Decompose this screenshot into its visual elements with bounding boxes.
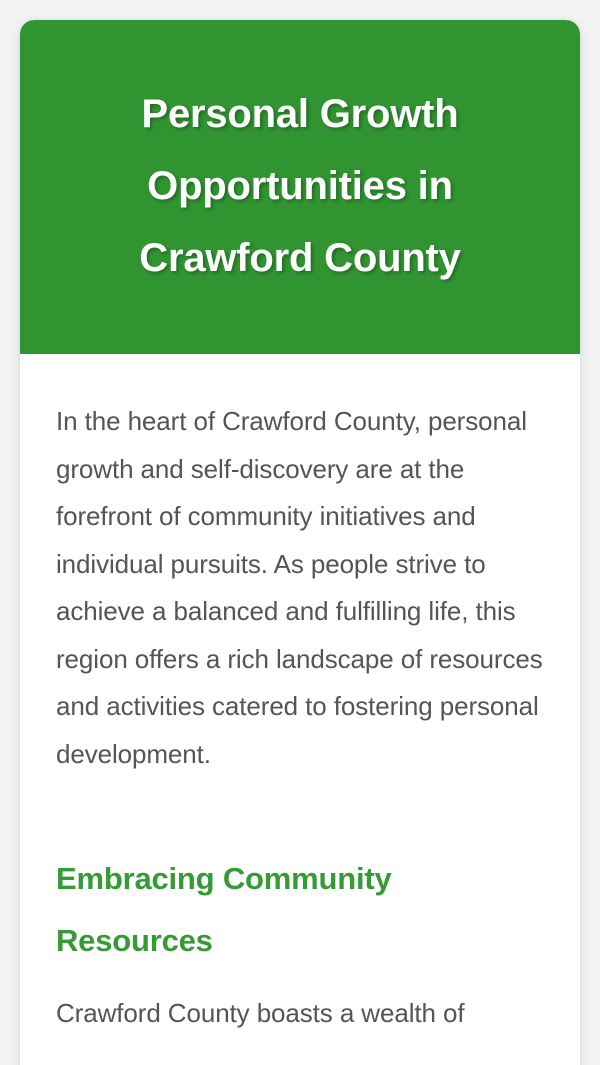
page-title: Personal Growth Opportunities in Crawfor… xyxy=(60,78,540,294)
intro-paragraph: In the heart of Crawford County, persona… xyxy=(56,398,544,778)
card-header-banner: Personal Growth Opportunities in Crawfor… xyxy=(20,20,580,354)
section-one-paragraph: Crawford County boasts a wealth of xyxy=(56,990,544,1038)
article-page: Personal Growth Opportunities in Crawfor… xyxy=(0,0,600,1065)
article-card: Personal Growth Opportunities in Crawfor… xyxy=(20,20,580,1065)
section-heading-community-resources: Embracing Community Resources xyxy=(56,848,544,972)
card-body: In the heart of Crawford County, persona… xyxy=(20,354,580,1065)
